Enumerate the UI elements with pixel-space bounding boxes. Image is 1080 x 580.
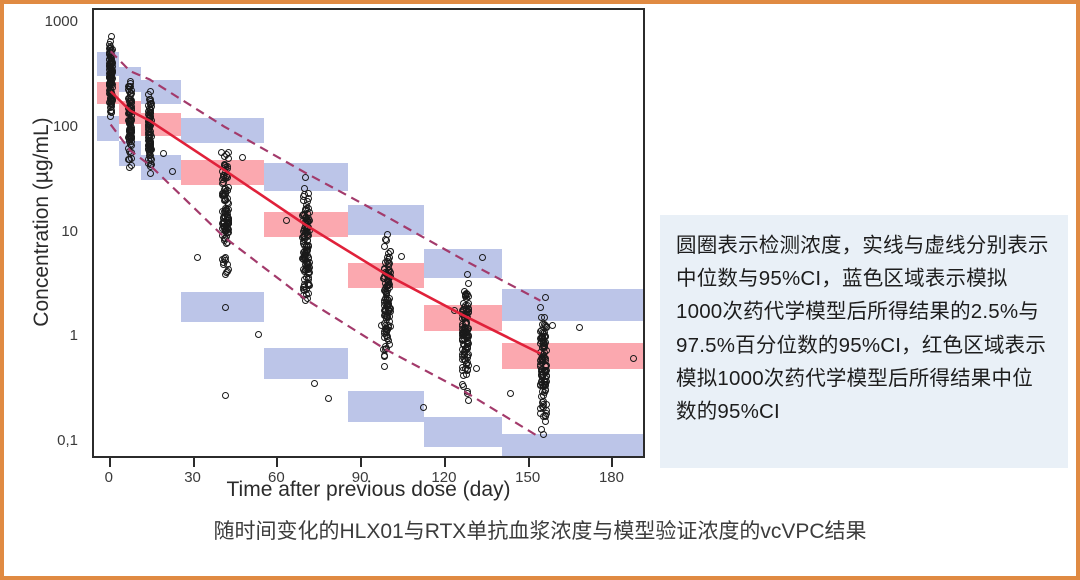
y-tick-label: 1 — [70, 327, 78, 344]
figure-page: Concentration (µg/mL) 10001001010,1 0306… — [0, 0, 1080, 580]
x-tick-mark — [276, 458, 278, 467]
figure-caption: 随时间变化的HLX01与RTX单抗血浆浓度与模型验证浓度的vcVPC结果 — [0, 515, 1080, 545]
y-axis-tick: 10 — [0, 233, 92, 234]
plot-area — [92, 8, 645, 458]
y-tick-label: 10 — [61, 223, 78, 240]
y-axis-tick: 1 — [0, 337, 92, 338]
x-tick-mark — [611, 458, 613, 467]
y-tick-label: 100 — [53, 118, 78, 135]
explanation-panel: 圆圈表示检测浓度，实线与虚线分别表示中位数与95%CI，蓝色区域表示模拟1000… — [660, 215, 1068, 468]
x-tick-mark — [109, 458, 111, 467]
x-tick-mark — [528, 458, 530, 467]
percentile-line — [111, 125, 541, 438]
y-tick-label: 1000 — [45, 13, 78, 30]
x-tick-mark — [444, 458, 446, 467]
x-axis-label: Time after previous dose (day) — [92, 478, 645, 502]
explanation-text: 圆圈表示检测浓度，实线与虚线分别表示中位数与95%CI，蓝色区域表示模拟1000… — [676, 229, 1052, 428]
percentile-line — [111, 91, 541, 353]
vpc-chart: Concentration (µg/mL) 10001001010,1 0306… — [0, 0, 660, 580]
y-axis-tick: 0,1 — [0, 442, 92, 443]
percentile-lines — [94, 10, 643, 456]
x-tick-mark — [360, 458, 362, 467]
y-tick-label: 0,1 — [57, 432, 78, 449]
y-axis-tick: 100 — [0, 128, 92, 129]
y-axis-ticks: 10001001010,1 — [0, 8, 92, 458]
x-tick-mark — [193, 458, 195, 467]
y-axis-tick: 1000 — [0, 23, 92, 24]
percentile-line — [111, 51, 541, 300]
